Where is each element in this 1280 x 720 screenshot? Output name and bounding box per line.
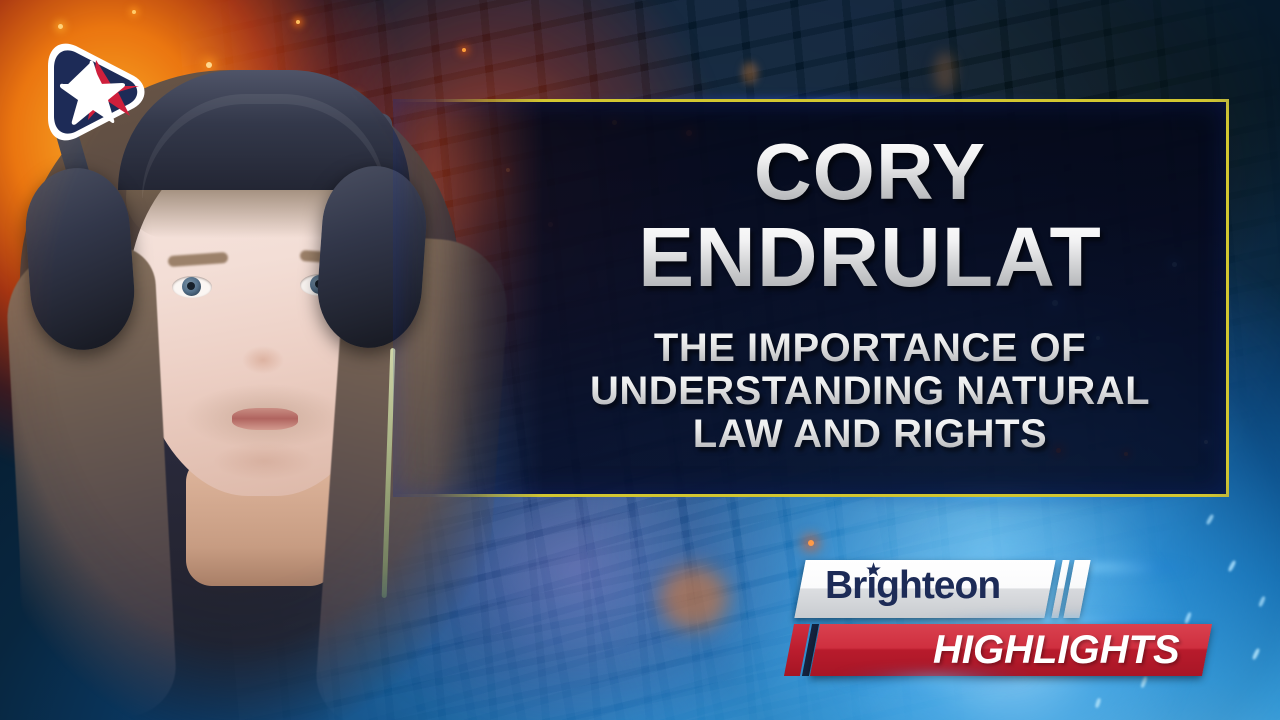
brighteon-star-icon: ★ (865, 561, 882, 580)
episode-subtitle: THE IMPORTANCE OF UNDERSTANDING NATURAL … (590, 327, 1150, 455)
title-text-block: CORY ENDRULAT THE IMPORTANCE OF UNDERSTA… (520, 118, 1220, 478)
brighteon-highlights-lockup: Brighteon ★ HIGHLIGHTS (795, 552, 1215, 680)
chin (200, 438, 328, 496)
highlights-label: HIGHLIGHTS (933, 630, 1180, 670)
pupil-left (187, 282, 195, 290)
guest-name-line-1: CORY (754, 134, 986, 211)
nose (236, 318, 290, 378)
brighteon-play-star-logo (38, 36, 152, 148)
guest-name-line-2: ENDRULAT (638, 217, 1102, 298)
thumbnail-canvas: CORY ENDRULAT THE IMPORTANCE OF UNDERSTA… (0, 0, 1280, 720)
brighteon-wordmark-text: Brighteon (825, 566, 1000, 605)
lockup-glow-bottom (815, 668, 1115, 690)
mouth (232, 408, 298, 430)
subtitle-line-2: UNDERSTANDING NATURAL (590, 370, 1150, 413)
subtitle-line-3: LAW AND RIGHTS (590, 413, 1150, 456)
subtitle-line-1: THE IMPORTANCE OF (590, 327, 1150, 370)
